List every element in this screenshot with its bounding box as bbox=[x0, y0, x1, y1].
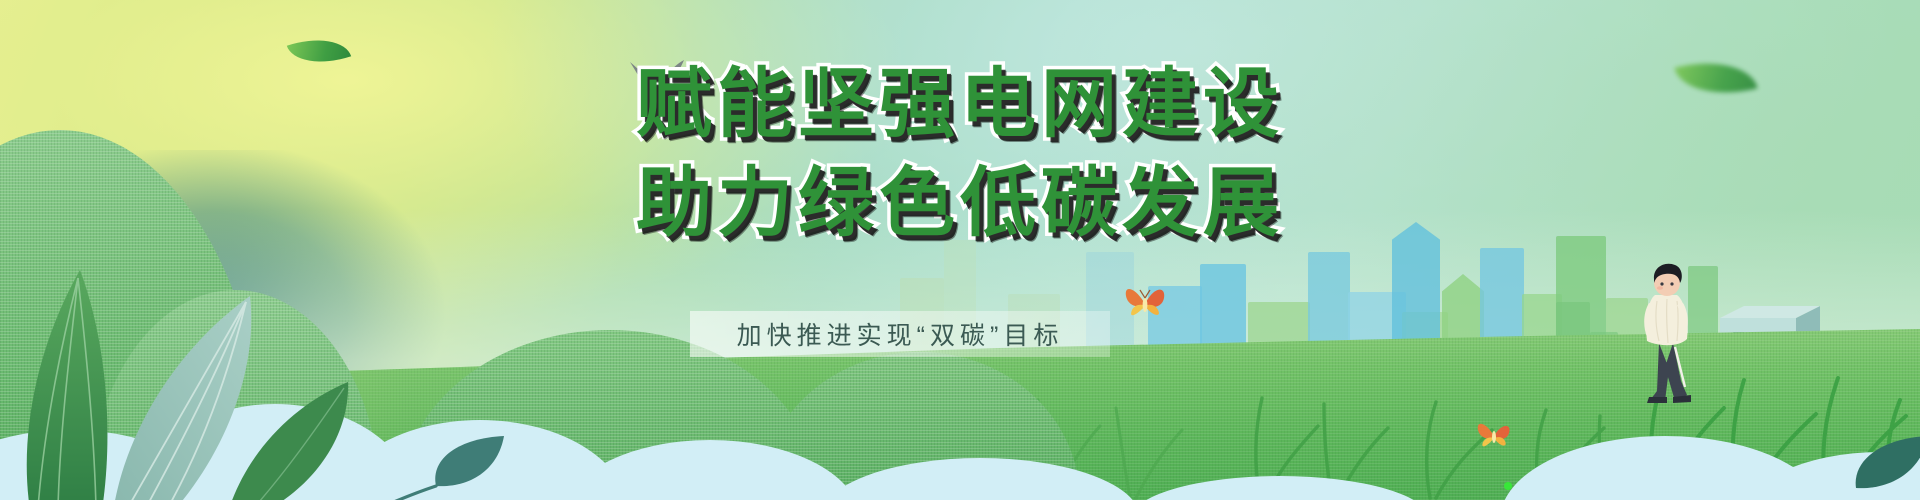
leaf-dark-right bbox=[1822, 430, 1920, 500]
swallow-bird-icon bbox=[626, 58, 692, 106]
walking-person bbox=[1635, 255, 1707, 410]
butterfly-right-icon bbox=[1474, 416, 1514, 454]
butterfly-center-icon bbox=[1122, 280, 1168, 324]
leaf-dark-green-small bbox=[228, 382, 358, 500]
leaf-teal-with-stem bbox=[378, 428, 508, 500]
eco-banner: 赋能坚强电网建设 助力绿色低碳发展 加快推进实现“双碳”目标 bbox=[0, 0, 1920, 500]
subtitle-text: 加快推进实现“双碳”目标 bbox=[690, 311, 1110, 357]
